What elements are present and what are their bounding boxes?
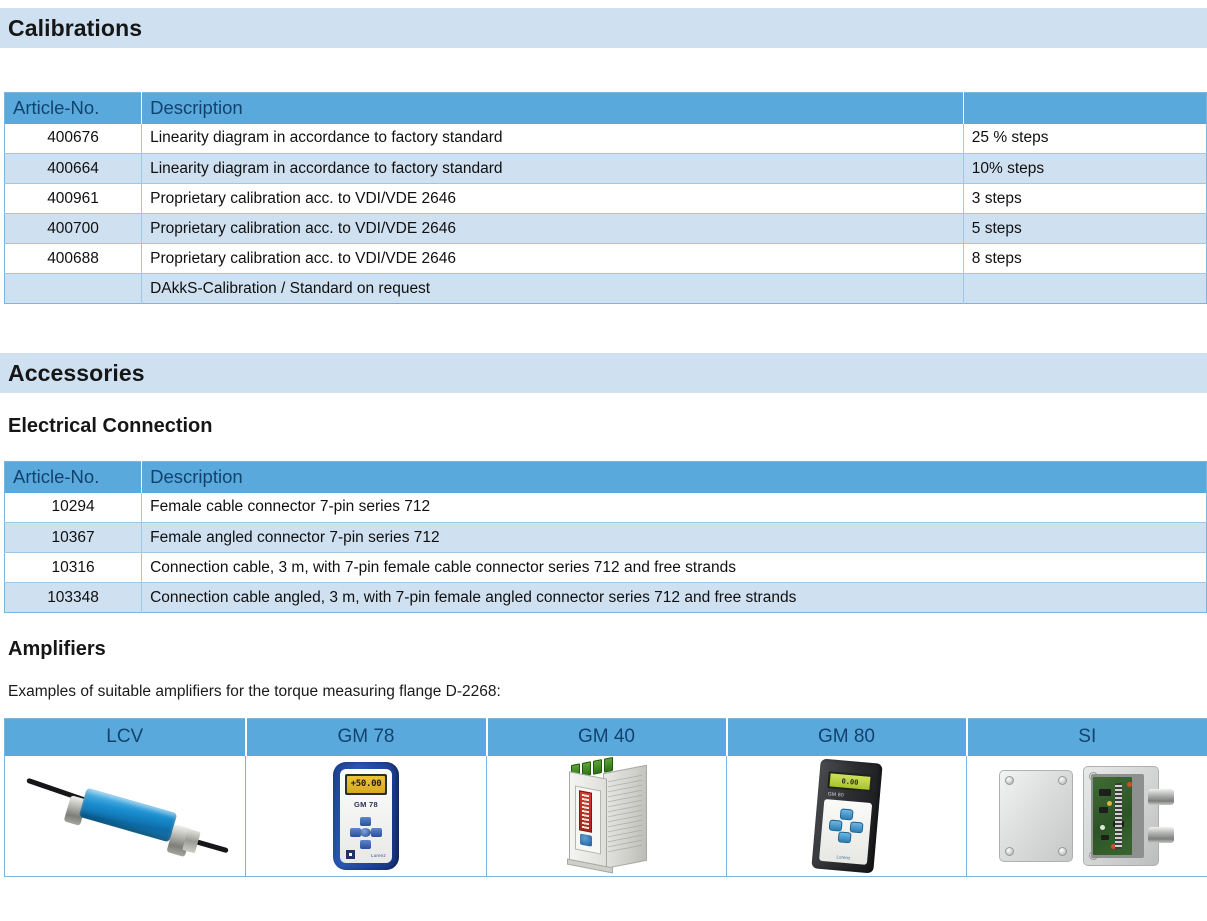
handheld-dark-meter-photo: 0.00 GM 80 Lo <box>727 756 966 876</box>
handheld-blue-meter-photo: +50.00 GM 78 <box>246 756 486 876</box>
cell-description: Linearity diagram in accordance to facto… <box>142 124 964 154</box>
cell-description: Linearity diagram in accordance to facto… <box>142 154 964 184</box>
cell-steps: 3 steps <box>963 184 1206 214</box>
cell-article-no: 400688 <box>5 244 142 274</box>
circuit-board <box>1093 777 1132 855</box>
table-row: 400676 Linearity diagram in accordance t… <box>5 124 1207 154</box>
table-row: 400700 Proprietary calibration acc. to V… <box>5 214 1207 244</box>
electrical-connection-table: Article-No. Description 10294 Female cab… <box>4 461 1207 613</box>
screw-icon <box>1005 847 1014 856</box>
lcd-display: +50.00 <box>345 774 387 795</box>
cable-gland <box>1148 827 1174 843</box>
arrow-down-key-icon <box>360 840 371 849</box>
amplifier-column-header-lcv: LCV <box>5 719 246 756</box>
cell-article-no: 10294 <box>5 493 142 523</box>
amplifier-cell-gm80: 0.00 GM 80 Lo <box>727 756 967 877</box>
section-title: Calibrations <box>8 15 142 42</box>
cell-article-no: 10367 <box>5 523 142 553</box>
enclosure-cavity <box>1091 774 1144 858</box>
amplifier-column-header-gm80: GM 80 <box>727 719 967 756</box>
device-housing: +50.00 GM 78 <box>333 762 399 870</box>
lcd-value: +50.00 <box>351 779 382 789</box>
device-faceplate: Lorenz <box>818 798 871 864</box>
enter-key-icon <box>360 828 371 837</box>
qr-code-icon <box>346 850 355 859</box>
inline-cylinder-amplifier-photo <box>5 756 245 876</box>
column-header-description: Description <box>142 93 964 124</box>
cable-gland <box>1148 789 1174 805</box>
table-row: 400664 Linearity diagram in accordance t… <box>5 154 1207 184</box>
calibrations-table: Article-No. Description 400676 Linearity… <box>4 92 1207 304</box>
cell-article-no <box>5 274 142 304</box>
table-header-row: Article-No. Description <box>5 462 1207 493</box>
table-row: 10367 Female angled connector 7-pin seri… <box>5 523 1207 553</box>
amplifier-body <box>79 787 178 842</box>
module-window <box>575 785 601 854</box>
table-row: DAkkS-Calibration / Standard on request <box>5 274 1207 304</box>
amplifiers-header-row: LCV GM 78 GM 40 GM 80 SI <box>5 719 1207 756</box>
amplifier-cell-lcv <box>5 756 246 877</box>
column-header-article-no: Article-No. <box>5 462 142 493</box>
amplifier-cell-gm40 <box>487 756 727 877</box>
subsection-title-electrical-connection: Electrical Connection <box>0 415 1207 438</box>
amplifier-cell-gm78: +50.00 GM 78 <box>246 756 487 877</box>
device-housing: 0.00 GM 80 Lo <box>811 758 882 873</box>
cell-steps: 8 steps <box>963 244 1206 274</box>
cell-article-no: 400676 <box>5 124 142 154</box>
junction-box-enclosure-photo <box>967 756 1207 876</box>
table-row: 400688 Proprietary calibration acc. to V… <box>5 244 1207 274</box>
trim-potentiometer <box>580 833 592 846</box>
datasheet-page: Calibrations Article-No. Description 400… <box>0 0 1207 921</box>
module-side-panel <box>603 764 647 869</box>
arrow-right-key-icon <box>849 821 863 833</box>
cell-steps <box>963 274 1206 304</box>
amplifier-column-header-si: SI <box>967 719 1207 756</box>
screw-icon <box>1058 776 1067 785</box>
table-row: 10294 Female cable connector 7-pin serie… <box>5 493 1207 523</box>
device-brand-label: Lorenz <box>371 853 386 858</box>
table-header-row: Article-No. Description <box>5 93 1207 124</box>
cell-description: Female angled connector 7-pin series 712 <box>142 523 1207 553</box>
cell-steps: 10% steps <box>963 154 1206 184</box>
arrow-left-key-icon <box>828 819 842 831</box>
lcd-display: 0.00 <box>827 771 872 792</box>
amplifier-column-header-gm40: GM 40 <box>487 719 727 756</box>
table-row: 103348 Connection cable angled, 3 m, wit… <box>5 583 1207 613</box>
cell-description: DAkkS-Calibration / Standard on request <box>142 274 964 304</box>
screw-icon <box>1005 776 1014 785</box>
section-title: Accessories <box>8 360 145 387</box>
table-row: 400961 Proprietary calibration acc. to V… <box>5 184 1207 214</box>
device-brand-label: Lorenz <box>819 852 867 861</box>
section-header-accessories: Accessories <box>0 353 1207 393</box>
device-faceplate: +50.00 GM 78 <box>340 769 392 863</box>
cell-description: Proprietary calibration acc. to VDI/VDE … <box>142 214 964 244</box>
cell-steps: 25 % steps <box>963 124 1206 154</box>
pin-header <box>1115 783 1122 849</box>
cell-article-no: 103348 <box>5 583 142 613</box>
table-row: 10316 Connection cable, 3 m, with 7-pin … <box>5 553 1207 583</box>
cell-steps: 5 steps <box>963 214 1206 244</box>
column-header-article-no: Article-No. <box>5 93 142 124</box>
amplifiers-intro-text: Examples of suitable amplifiers for the … <box>0 683 1207 701</box>
enclosure-lid <box>999 770 1073 862</box>
cell-article-no: 400664 <box>5 154 142 184</box>
device-model-label: GM 78 <box>340 800 392 809</box>
enclosure-base <box>1083 766 1159 866</box>
keypad <box>350 817 382 849</box>
arrow-up-key-icon <box>360 817 371 826</box>
amplifier-column-header-gm78: GM 78 <box>246 719 487 756</box>
din-rail-module-photo <box>487 756 726 876</box>
lcd-value: 0.00 <box>841 776 858 785</box>
module-front-panel <box>569 771 607 870</box>
cell-article-no: 400700 <box>5 214 142 244</box>
keypad <box>827 807 864 844</box>
cell-article-no: 400961 <box>5 184 142 214</box>
arrow-up-key-icon <box>839 808 853 820</box>
amplifiers-table: LCV GM 78 GM 40 GM 80 SI <box>4 718 1207 877</box>
arrow-right-key-icon <box>371 828 382 837</box>
cell-description: Proprietary calibration acc. to VDI/VDE … <box>142 244 964 274</box>
column-header-description: Description <box>142 462 1207 493</box>
column-header-steps <box>963 93 1206 124</box>
amplifier-cell-si <box>967 756 1207 877</box>
cell-description: Connection cable, 3 m, with 7-pin female… <box>142 553 1207 583</box>
cell-description: Proprietary calibration acc. to VDI/VDE … <box>142 184 964 214</box>
cell-article-no: 10316 <box>5 553 142 583</box>
subsection-title-amplifiers: Amplifiers <box>0 638 1207 661</box>
cell-description: Female cable connector 7-pin series 712 <box>142 493 1207 523</box>
cell-description: Connection cable angled, 3 m, with 7-pin… <box>142 583 1207 613</box>
device-model-label: GM 80 <box>827 791 843 798</box>
screw-icon <box>1058 847 1067 856</box>
arrow-down-key-icon <box>837 831 851 843</box>
amplifiers-image-row: +50.00 GM 78 <box>5 756 1207 877</box>
dip-switch-bank <box>579 790 592 833</box>
section-header-calibrations: Calibrations <box>0 8 1207 48</box>
